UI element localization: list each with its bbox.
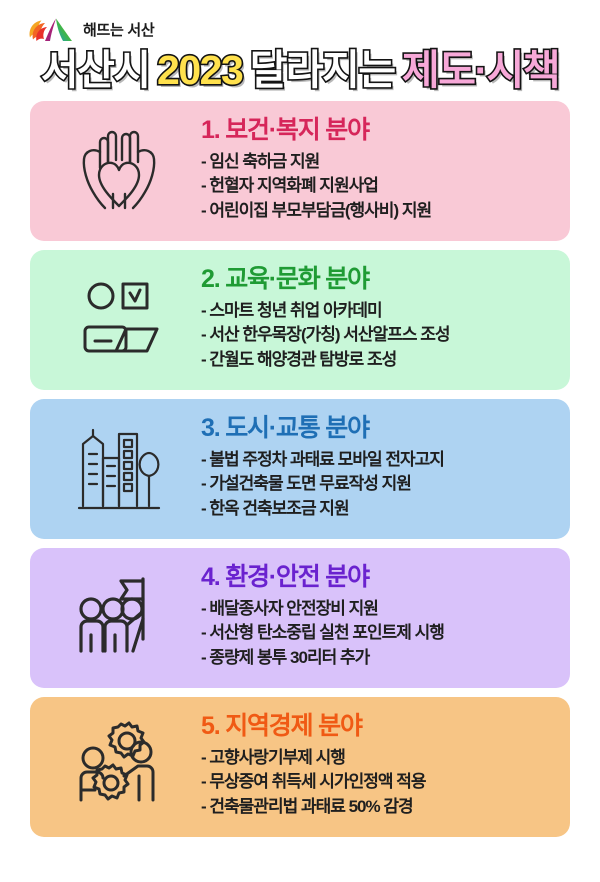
list-item: - 한옥 건축보조금 지원 — [201, 497, 552, 522]
section-title: 1. 보건·복지 분야 — [201, 116, 552, 145]
section-body: 5. 지역경제 분야 - 고향사랑기부제 시행 - 무상증여 취득세 시가인정액… — [201, 712, 556, 820]
list-item: - 서산형 탄소중립 실천 포인트제 시행 — [201, 621, 552, 646]
hands-holding-heart-icon — [36, 122, 201, 218]
list-item: - 서산 한우목장(가칭) 서산알프스 조성 — [201, 323, 552, 348]
brand-header: 해뜨는 서산 — [0, 0, 600, 46]
section-title: 3. 도시·교통 분야 — [201, 414, 552, 443]
list-item: - 배달종사자 안전장비 지원 — [201, 597, 552, 622]
section-items: - 임신 축하금 지원 - 헌혈자 지역화폐 지원사업 - 어린이집 부모부담금… — [201, 150, 552, 224]
person-laptop-checkbox-icon — [36, 271, 201, 367]
section-body: 1. 보건·복지 분야 - 임신 축하금 지원 - 헌혈자 지역화폐 지원사업 … — [201, 116, 556, 224]
section-title: 2. 교육·문화 분야 — [201, 265, 552, 294]
section-body: 4. 환경·안전 분야 - 배달종사자 안전장비 지원 - 서산형 탄소중립 실… — [201, 563, 556, 671]
page-title: 서산시 2023 달라지는 제도·시책 — [0, 46, 600, 101]
section-items: - 불법 주정차 과태료 모바일 전자고지 - 가설건축물 도면 무료작성 지원… — [201, 448, 552, 522]
title-part-topic: 제도·시책 — [402, 50, 559, 91]
list-item: - 고향사랑기부제 시행 — [201, 746, 552, 771]
list-item: - 무상증여 취득세 시가인정액 적용 — [201, 770, 552, 795]
list-item: - 헌혈자 지역화폐 지원사업 — [201, 174, 552, 199]
city-buildings-tree-icon — [36, 420, 201, 516]
people-with-gears-icon — [36, 718, 201, 814]
title-part-city: 서산시 — [41, 50, 150, 91]
section-card-health-welfare[interactable]: 1. 보건·복지 분야 - 임신 축하금 지원 - 헌혈자 지역화폐 지원사업 … — [30, 101, 570, 241]
list-item: - 스마트 청년 취업 아카데미 — [201, 299, 552, 324]
title-part-verb: 달라지는 — [250, 50, 395, 91]
section-items: - 스마트 청년 취업 아카데미 - 서산 한우목장(가칭) 서산알프스 조성 … — [201, 299, 552, 373]
section-items: - 배달종사자 안전장비 지원 - 서산형 탄소중립 실천 포인트제 시행 - … — [201, 597, 552, 671]
list-item: - 종량제 봉투 30리터 추가 — [201, 646, 552, 671]
section-card-list: 1. 보건·복지 분야 - 임신 축하금 지원 - 헌혈자 지역화폐 지원사업 … — [0, 101, 600, 837]
section-title: 4. 환경·안전 분야 — [201, 563, 552, 592]
section-card-education-culture[interactable]: 2. 교육·문화 분야 - 스마트 청년 취업 아카데미 - 서산 한우목장(가… — [30, 250, 570, 390]
list-item: - 어린이집 부모부담금(행사비) 지원 — [201, 199, 552, 224]
title-part-year: 2023 — [157, 50, 242, 91]
section-items: - 고향사랑기부제 시행 - 무상증여 취득세 시가인정액 적용 - 건축물관리… — [201, 746, 552, 820]
list-item: - 불법 주정차 과태료 모바일 전자고지 — [201, 448, 552, 473]
sunrise-seosan-logo-icon — [28, 14, 74, 44]
section-body: 3. 도시·교통 분야 - 불법 주정차 과태료 모바일 전자고지 - 가설건축… — [201, 414, 556, 522]
brand-name: 해뜨는 서산 — [83, 19, 154, 40]
section-card-local-economy[interactable]: 5. 지역경제 분야 - 고향사랑기부제 시행 - 무상증여 취득세 시가인정액… — [30, 697, 570, 837]
section-card-environment-safety[interactable]: 4. 환경·안전 분야 - 배달종사자 안전장비 지원 - 서산형 탄소중립 실… — [30, 548, 570, 688]
list-item: - 간월도 해양경관 탐방로 조성 — [201, 348, 552, 373]
section-card-city-transport[interactable]: 3. 도시·교통 분야 - 불법 주정차 과태료 모바일 전자고지 - 가설건축… — [30, 399, 570, 539]
list-item: - 건축물관리법 과태료 50% 감경 — [201, 795, 552, 820]
list-item: - 임신 축하금 지원 — [201, 150, 552, 175]
people-with-flag-icon — [36, 569, 201, 665]
section-body: 2. 교육·문화 분야 - 스마트 청년 취업 아카데미 - 서산 한우목장(가… — [201, 265, 556, 373]
section-title: 5. 지역경제 분야 — [201, 712, 552, 741]
list-item: - 가설건축물 도면 무료작성 지원 — [201, 472, 552, 497]
